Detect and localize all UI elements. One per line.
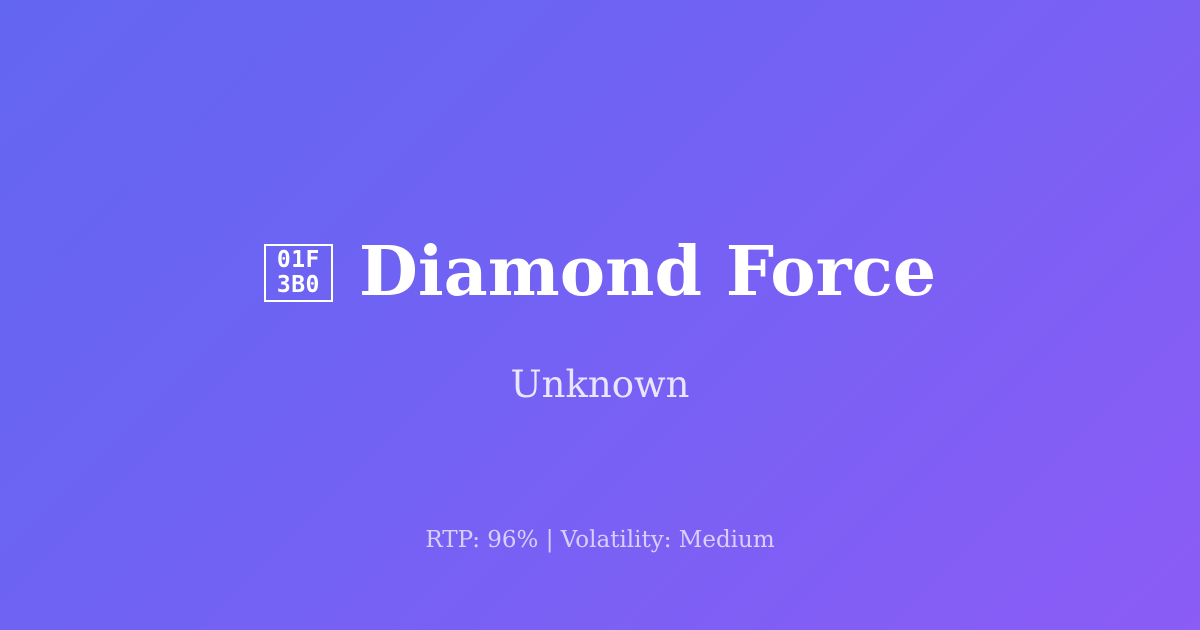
- slot-machine-icon-codepoint-top: 01F: [277, 248, 320, 273]
- page-title: Diamond Force: [359, 237, 936, 308]
- game-stats-line: RTP: 96% | Volatility: Medium: [0, 527, 1200, 555]
- game-provider-subtitle: Unknown: [0, 363, 1200, 407]
- game-og-card: 01F 3B0 Diamond Force Unknown RTP: 96% |…: [0, 0, 1200, 630]
- slot-machine-icon: 01F 3B0: [264, 244, 333, 302]
- header-row: 01F 3B0 Diamond Force: [0, 237, 1200, 308]
- slot-machine-icon-codepoint-bottom: 3B0: [277, 273, 320, 298]
